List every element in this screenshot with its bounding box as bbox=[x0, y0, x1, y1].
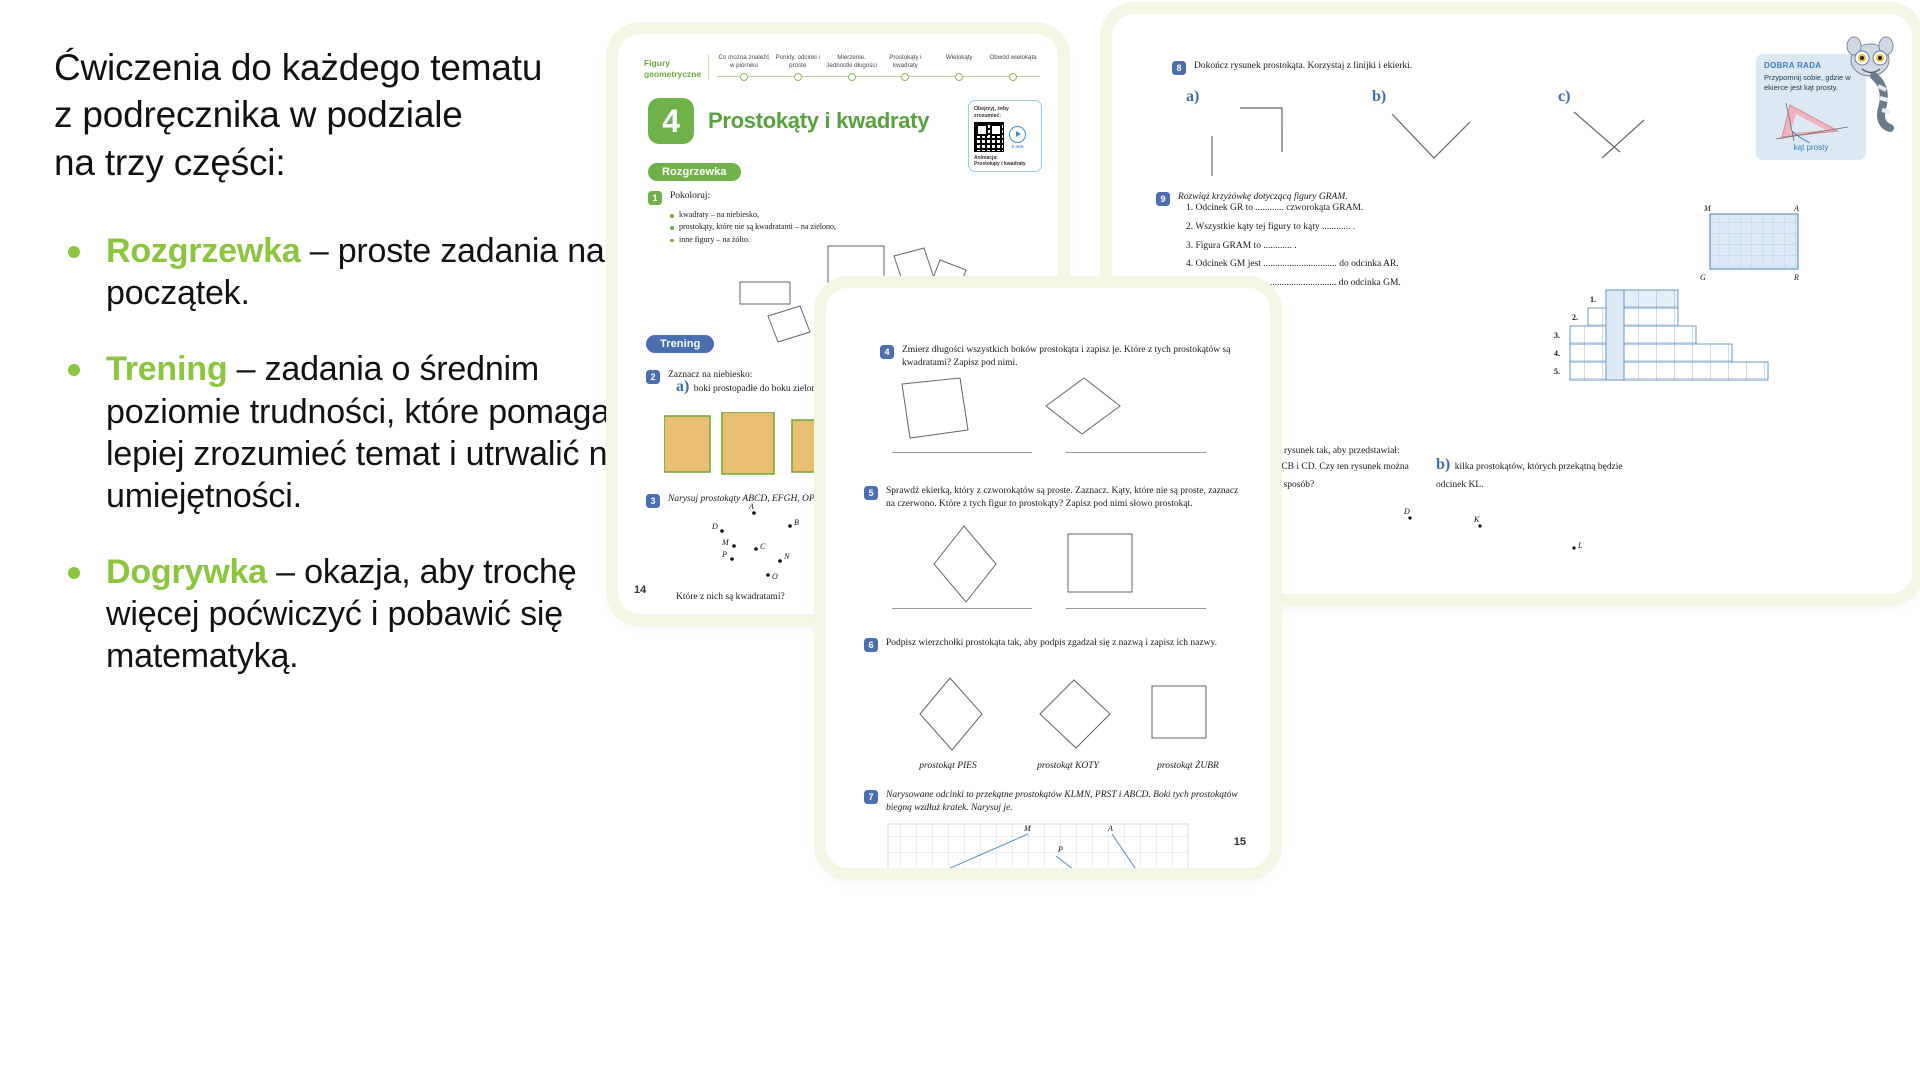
svg-text:A: A bbox=[748, 502, 754, 511]
video-qr-card[interactable]: Obejrzyj, żeby zrozumieć: 2 min Animacja… bbox=[968, 100, 1042, 172]
section-badge-trening: Trening bbox=[646, 335, 714, 353]
topic-item-label: Punkty, odcinki i proste bbox=[771, 54, 825, 71]
option-text-b: kilka prostokątów, których przekątną będ… bbox=[1436, 462, 1623, 490]
task-text: Sprawdź ekierką, który z czworokątów są … bbox=[886, 485, 1244, 511]
topic-dot-icon bbox=[1009, 73, 1017, 81]
tip-box-caption: kąt prosty bbox=[1764, 143, 1858, 152]
topic-item-4[interactable]: Wielokąty bbox=[932, 54, 986, 82]
task-number-badge: 4 bbox=[880, 345, 894, 359]
crossword-row-1-number: 1. bbox=[1590, 295, 1596, 304]
topic-item-label: Prostokąty i kwadraty bbox=[878, 54, 932, 71]
task-4: 4 Zmierz długości wszystkich boków prost… bbox=[880, 344, 1250, 370]
topic-item-label: Mierzenie. Jednostki długości bbox=[825, 54, 879, 71]
svg-text:D: D bbox=[711, 522, 718, 531]
svg-text:O: O bbox=[772, 572, 778, 581]
svg-text:G: G bbox=[1700, 273, 1706, 282]
answer-line[interactable] bbox=[1066, 452, 1206, 453]
list-item: prostokąty, które nie są kwadratami – na… bbox=[670, 221, 1042, 233]
crossword-row-3-number: 3. bbox=[1554, 331, 1560, 340]
task-text: Zmierz długości wszystkich boków prostok… bbox=[902, 344, 1250, 370]
bullet-keyword: Trening bbox=[106, 350, 227, 388]
clue-1: 1. Odcinek GR to ............ czworokąta… bbox=[1186, 202, 1566, 215]
task-text: Podpisz wierzchołki prostokąta tak, aby … bbox=[886, 637, 1217, 650]
task-number-badge: 5 bbox=[864, 486, 878, 500]
option-text-a: boki prostopadłe do boku zielonego, bbox=[694, 384, 833, 394]
topic-dot-icon bbox=[740, 73, 748, 81]
topic-dot-icon bbox=[955, 73, 963, 81]
topic-dot-icon bbox=[794, 73, 802, 81]
task-text: Dokończ rysunek prostokąta. Korzystaj z … bbox=[1194, 60, 1412, 73]
task-number-badge: 3 bbox=[646, 494, 660, 508]
task-number-badge: 2 bbox=[646, 370, 660, 384]
option-label-b: b) bbox=[1436, 456, 1450, 473]
topic-item-2[interactable]: Mierzenie. Jednostki długości bbox=[825, 54, 879, 82]
task-8-figures bbox=[1182, 96, 1752, 176]
topic-dot-icon bbox=[848, 73, 856, 81]
list-item: kwadraty – na niebiesko, bbox=[670, 209, 1042, 221]
topic-brand-line-2: geometryczne bbox=[644, 69, 706, 80]
figure-caption-2: prostokąt KOTY bbox=[1008, 760, 1128, 773]
option-label-a: a) bbox=[676, 378, 689, 395]
svg-text:D: D bbox=[1403, 507, 1410, 516]
topic-item-label: Wielokąty bbox=[932, 54, 986, 71]
answer-line[interactable] bbox=[1066, 608, 1206, 609]
task-7: 7 Narysowane odcinki to przekątne prosto… bbox=[864, 789, 1244, 815]
task-number-badge: 9 bbox=[1156, 192, 1170, 206]
qr-caption: Animacja: Prostokąty i kwadraty bbox=[974, 155, 1036, 167]
task-8: 8 Dokończ rysunek prostokąta. Korzystaj … bbox=[1172, 60, 1732, 75]
crossword-row-5-number: 5. bbox=[1554, 367, 1560, 376]
page-number: 14 bbox=[634, 584, 646, 596]
svg-text:C: C bbox=[760, 542, 766, 551]
page-number: 15 bbox=[1234, 836, 1246, 848]
topic-divider bbox=[708, 54, 709, 80]
task-9-gram-figure: MA GR bbox=[1696, 200, 1816, 290]
svg-text:L: L bbox=[1577, 541, 1583, 550]
topic-item-5[interactable]: Obwód wielokąta bbox=[986, 54, 1040, 82]
task-1-options: kwadraty – na niebiesko, prostokąty, któ… bbox=[670, 209, 1042, 246]
intro-line-2: z podręcznika w podziale bbox=[54, 91, 674, 138]
task-number-badge: 8 bbox=[1172, 61, 1186, 75]
topic-item-label: Co można znaleźć w piórniku bbox=[717, 54, 771, 71]
page-title: Prostokąty i kwadraty bbox=[708, 108, 929, 134]
bullet-item-rozgrzewka: Rozgrzewka – proste zadania na początek. bbox=[54, 230, 674, 314]
task-5-figures bbox=[888, 520, 1218, 608]
qr-caption-line-2: Prostokąty i kwadraty bbox=[974, 161, 1036, 167]
svg-text:R: R bbox=[1793, 273, 1799, 282]
task-9-crossword-grid[interactable]: 1. 2. 3. 4. 5. bbox=[1548, 288, 1808, 403]
video-duration: 2 min bbox=[1009, 144, 1026, 149]
topic-navigation-bar: Figury geometryczne Co można znaleźć w p… bbox=[634, 48, 1042, 82]
svg-text:M: M bbox=[721, 538, 730, 547]
qr-card-title: Obejrzyj, żeby zrozumieć: bbox=[974, 106, 1036, 119]
task-7-grid-figure: MA PK SC bbox=[884, 820, 1204, 868]
feature-bullet-list: Rozgrzewka – proste zadania na początek.… bbox=[54, 230, 674, 677]
topic-brand-line-1: Figury bbox=[644, 58, 706, 69]
svg-text:A: A bbox=[1107, 824, 1113, 833]
svg-text:B: B bbox=[794, 518, 799, 527]
svg-text:P: P bbox=[1057, 845, 1063, 854]
topic-item-3[interactable]: Prostokąty i kwadraty bbox=[878, 54, 932, 82]
bullet-dot-icon bbox=[68, 246, 80, 258]
task-4-figures bbox=[888, 376, 1218, 462]
clue-4: 4. Odcinek GM jest .....................… bbox=[1186, 258, 1566, 271]
task-10-options: a) odcinki prostopadłe CB i CD. Czy ten … bbox=[1186, 456, 1746, 492]
task-6: 6 Podpisz wierzchołki prostokąta tak, ab… bbox=[864, 637, 1244, 652]
figure-caption-1: prostokąt PIES bbox=[888, 760, 1008, 773]
task-5: 5 Sprawdź ekierką, który z czworokątów s… bbox=[864, 485, 1244, 511]
topic-item-0[interactable]: Co można znaleźć w piórniku bbox=[717, 54, 771, 82]
intro-paragraph: Ćwiczenia do każdego tematu z podręcznik… bbox=[54, 44, 674, 186]
svg-text:K: K bbox=[1473, 515, 1480, 524]
task-6-figures bbox=[888, 670, 1248, 760]
topic-item-label: Obwód wielokąta bbox=[986, 54, 1040, 71]
bullet-item-dogrywka: Dogrywka – okazja, aby trochę więcej poć… bbox=[54, 551, 674, 677]
task-number-badge: 1 bbox=[648, 191, 662, 205]
crossword-row-2-number: 2. bbox=[1572, 313, 1578, 322]
task-9-clues: 1. Odcinek GR to ............ czworokąta… bbox=[1186, 202, 1566, 296]
clue-2: 2. Wszystkie kąty tej figury to kąty ...… bbox=[1186, 221, 1566, 234]
topic-brand: Figury geometryczne bbox=[644, 54, 706, 79]
task-text: Pokoloruj: bbox=[670, 190, 710, 203]
bullet-keyword: Dogrywka bbox=[106, 553, 267, 591]
task-text: Narysowane odcinki to przekątne prostoką… bbox=[886, 789, 1244, 815]
answer-line[interactable] bbox=[892, 608, 1032, 609]
clue-3: 3. Figura GRAM to ............ . bbox=[1186, 240, 1566, 253]
svg-text:A: A bbox=[1793, 204, 1799, 213]
answer-line[interactable] bbox=[892, 452, 1032, 453]
slide-text-column: Ćwiczenia do każdego tematu z podręcznik… bbox=[54, 44, 674, 677]
topic-dot-icon bbox=[901, 73, 909, 81]
bullet-dot-icon bbox=[68, 364, 80, 376]
lemur-mascot-icon bbox=[1838, 36, 1904, 132]
intro-line-3: na trzy części: bbox=[54, 139, 674, 186]
svg-text:M: M bbox=[1703, 204, 1712, 213]
topic-item-1[interactable]: Punkty, odcinki i proste bbox=[771, 54, 825, 82]
play-icon[interactable] bbox=[1009, 126, 1026, 143]
svg-text:N: N bbox=[783, 552, 790, 561]
bullet-item-trening: Trening – zadania o średnim poziomie tru… bbox=[54, 348, 674, 517]
task-number-badge: 6 bbox=[864, 638, 878, 652]
svg-text:M: M bbox=[1023, 824, 1032, 833]
bullet-dot-icon bbox=[68, 567, 80, 579]
crossword-row-4-number: 4. bbox=[1554, 349, 1560, 358]
figure-caption-3: prostokąt ŻUBR bbox=[1128, 760, 1248, 773]
workbook-page-15[interactable]: 4 Zmierz długości wszystkich boków prost… bbox=[826, 288, 1270, 868]
intro-line-1: Ćwiczenia do każdego tematu bbox=[54, 44, 674, 91]
bullet-keyword: Rozgrzewka bbox=[106, 232, 301, 270]
qr-code-icon[interactable] bbox=[974, 122, 1004, 152]
task-3-question: Które z nich są kwadratami? bbox=[676, 592, 785, 602]
task-1: 1 Pokoloruj: bbox=[648, 190, 1042, 205]
section-badge-rozgrzewka: Rozgrzewka bbox=[648, 163, 741, 181]
chapter-number-badge: 4 bbox=[648, 98, 694, 144]
svg-text:P: P bbox=[721, 550, 727, 559]
task-number-badge: 7 bbox=[864, 790, 878, 804]
